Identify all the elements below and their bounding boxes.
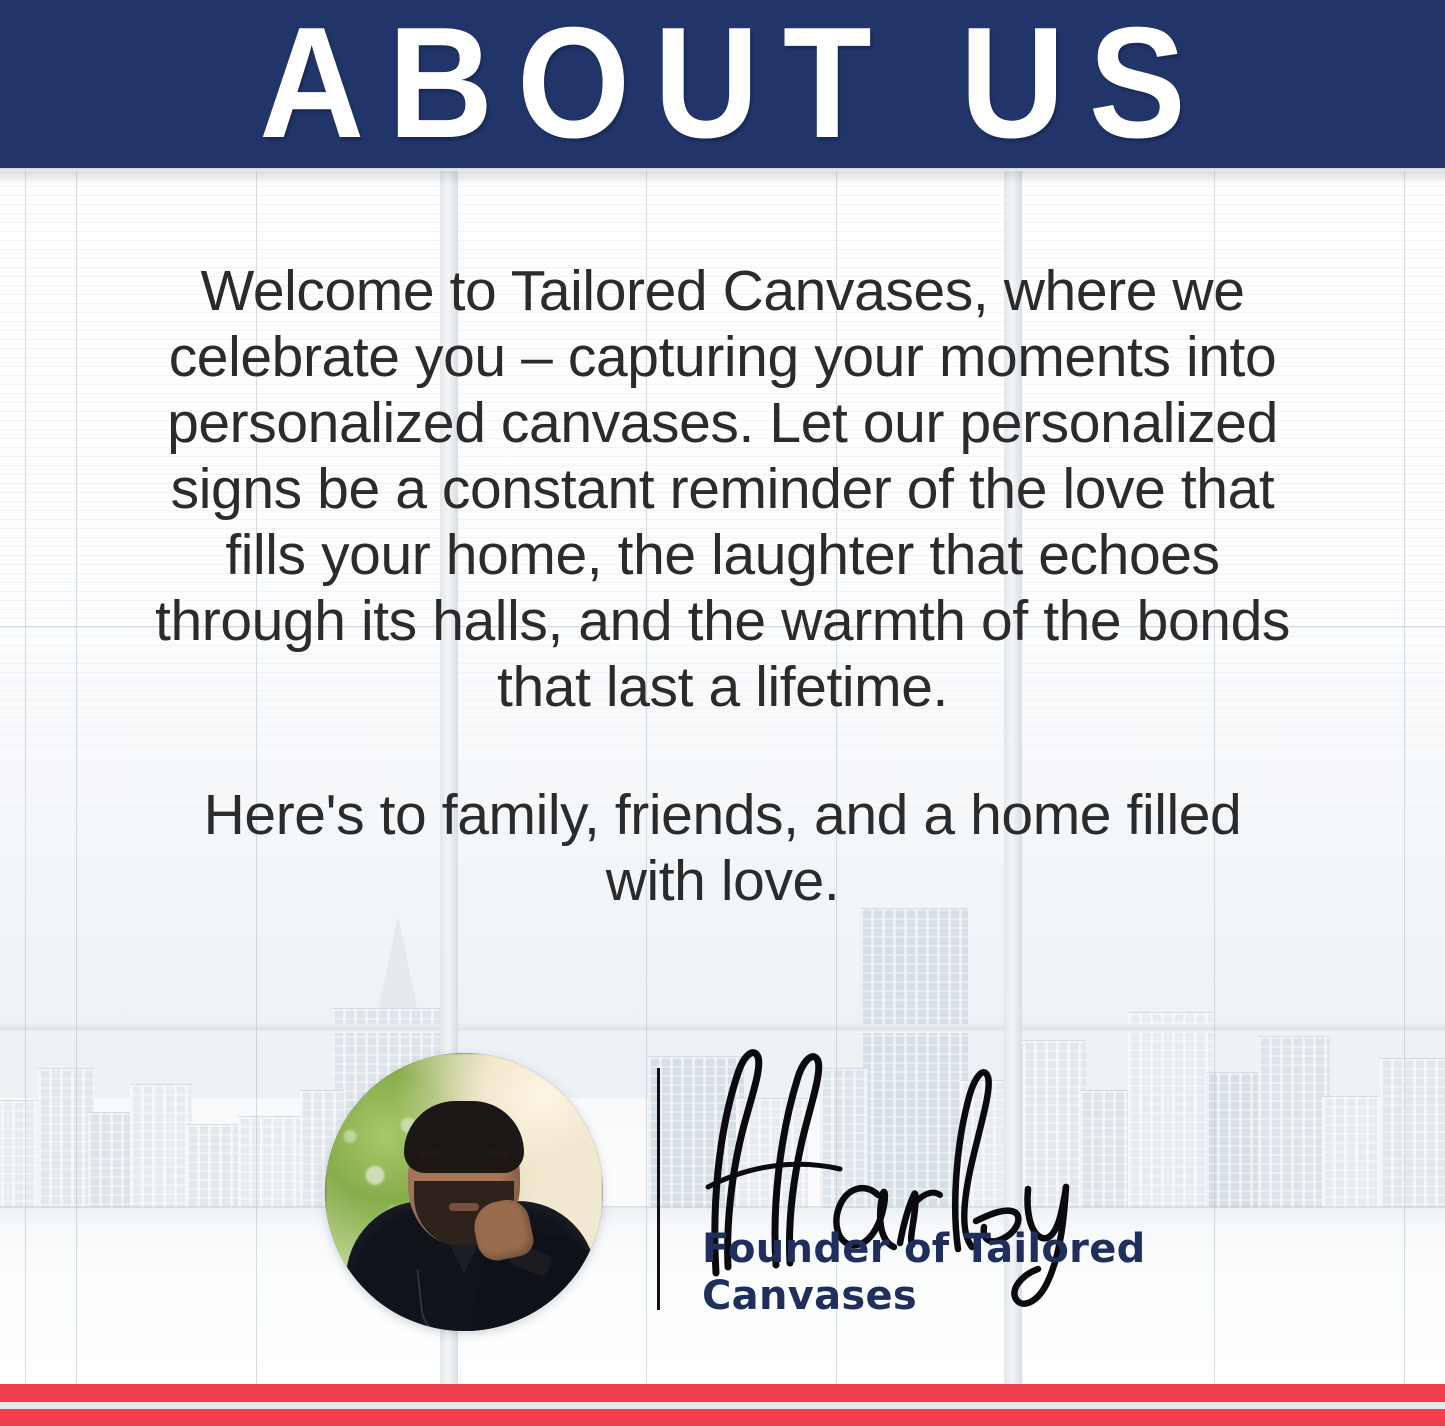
- footer-bar-gap: [0, 1402, 1445, 1409]
- about-copy: Welcome to Tailored Canvases, where we c…: [150, 258, 1295, 914]
- signature-role: Founder of Tailored Canvases: [702, 1226, 1172, 1320]
- footer-bar-bottom: [0, 1409, 1445, 1426]
- avatar-necklace: [417, 1264, 482, 1331]
- avatar: [325, 1053, 603, 1331]
- signature-divider: [657, 1068, 660, 1310]
- about-paragraph-1: Welcome to Tailored Canvases, where we c…: [150, 258, 1295, 720]
- page-title: ABOUT US: [58, 3, 1387, 163]
- window-mullion: [76, 168, 77, 1384]
- footer-bar-top: [0, 1384, 1445, 1402]
- header-banner: ABOUT US: [0, 0, 1445, 168]
- signature-role-line-2: Canvases: [702, 1273, 1172, 1320]
- banner-drop-shadow: [0, 171, 1445, 185]
- avatar-eye-right: [488, 1163, 505, 1171]
- avatar-mouth: [449, 1203, 479, 1211]
- avatar-eye-left: [422, 1163, 439, 1171]
- paragraph-spacer: [150, 720, 1295, 782]
- window-rail: [0, 1024, 1445, 1033]
- window-mullion: [25, 168, 26, 1384]
- window-mullion: [1404, 168, 1405, 1384]
- about-paragraph-2: Here's to family, friends, and a home fi…: [150, 782, 1295, 914]
- about-us-page: ABOUT US Welcome to Tailored Canvases, w…: [0, 0, 1445, 1426]
- signature-role-line-1: Founder of Tailored: [702, 1226, 1172, 1273]
